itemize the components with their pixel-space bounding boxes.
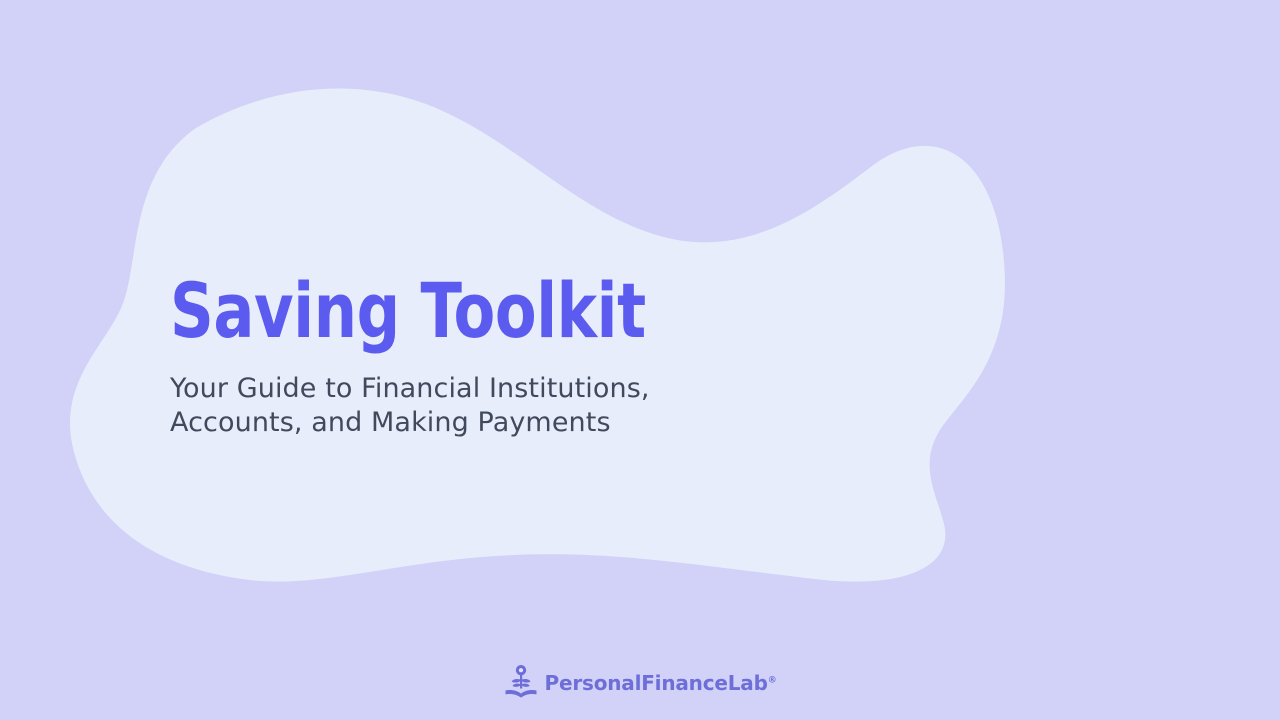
page-title: Saving Toolkit [170,272,730,350]
title-slide: Saving Toolkit Your Guide to Financial I… [0,0,1280,720]
brand-name: PersonalFinanceLab [545,671,768,695]
registered-trademark-mark: ® [768,675,777,685]
brand-logo: PersonalFinanceLab® [0,664,1280,702]
sprout-in-book-icon [504,664,538,702]
page-subtitle: Your Guide to Financial Institutions, Ac… [170,350,770,440]
slide-text-block: Saving Toolkit Your Guide to Financial I… [170,272,870,440]
brand-wordmark: PersonalFinanceLab® [545,673,777,693]
